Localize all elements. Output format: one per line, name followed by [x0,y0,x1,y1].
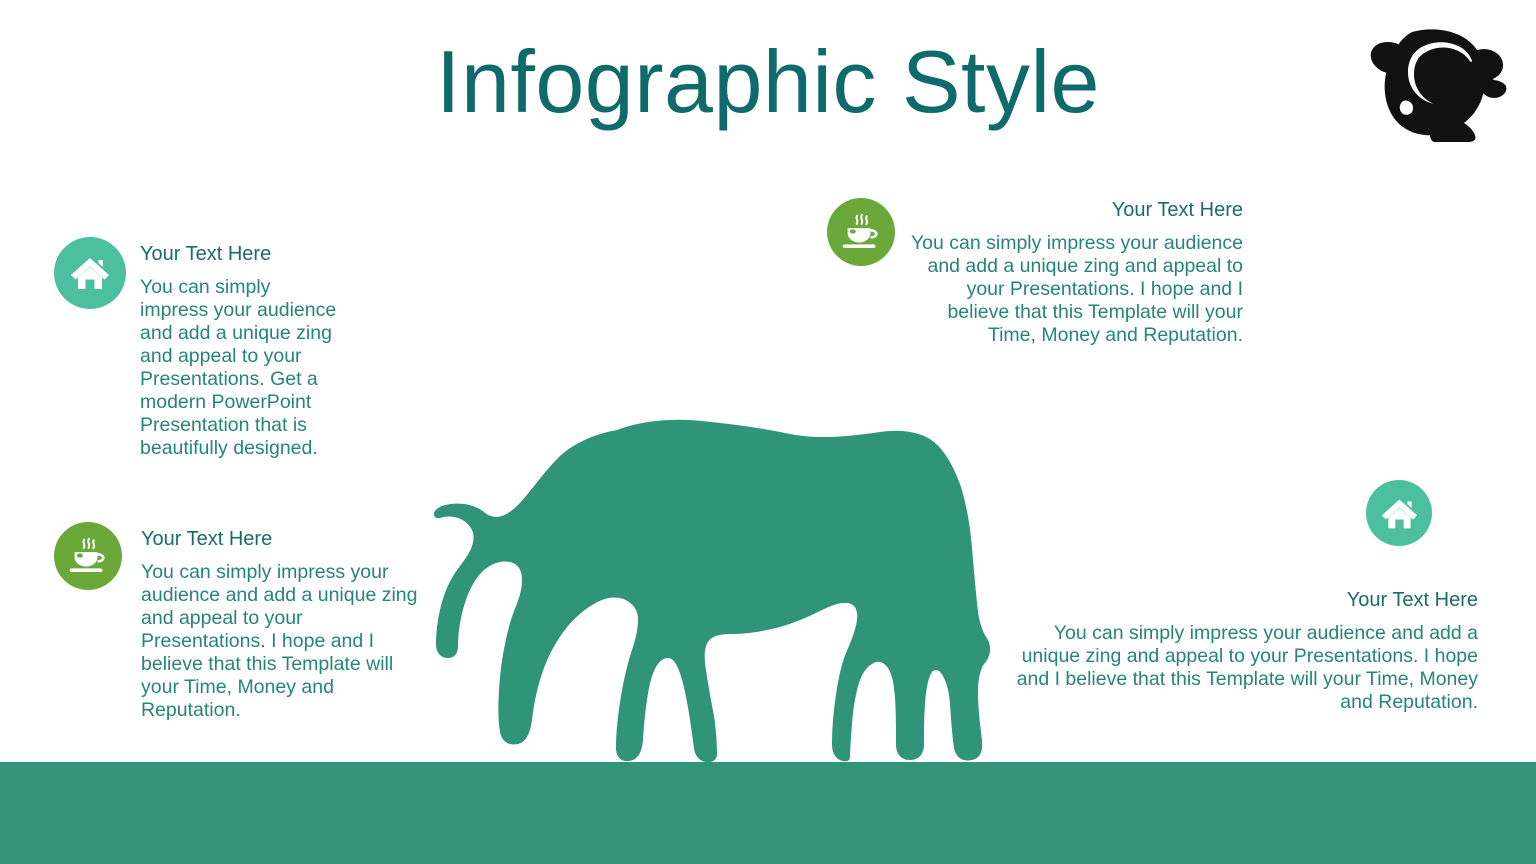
bottom-accent-band [0,762,1536,864]
block-body: You can simply impress your audience and… [1013,622,1478,714]
block-heading: Your Text Here [1013,588,1478,613]
block-heading: Your Text Here [140,242,340,267]
home-icon[interactable] [54,237,126,309]
coffee-cup-icon[interactable] [54,522,122,590]
block-body: You can simply impress your audience and… [141,561,419,722]
home-icon[interactable] [1366,480,1432,546]
block-body: You can simply impress your audience and… [905,232,1243,347]
block-heading: Your Text Here [905,198,1243,223]
block-heading: Your Text Here [141,527,419,552]
info-block-top-left: Your Text Here You can simply impress yo… [140,242,340,460]
coffee-cup-icon[interactable] [827,198,895,266]
grazing-cow-silhouette [432,412,1007,762]
slide-canvas: Infographic Style [0,0,1536,864]
cow-head-logo [1352,22,1508,142]
block-body: You can simply impress your audience and… [140,276,340,460]
info-block-bottom-left: Your Text Here You can simply impress yo… [141,527,419,722]
page-title: Infographic Style [0,38,1536,126]
info-block-top-right: Your Text Here You can simply impress yo… [905,198,1243,347]
info-block-bottom-right: Your Text Here You can simply impress yo… [1013,588,1478,714]
